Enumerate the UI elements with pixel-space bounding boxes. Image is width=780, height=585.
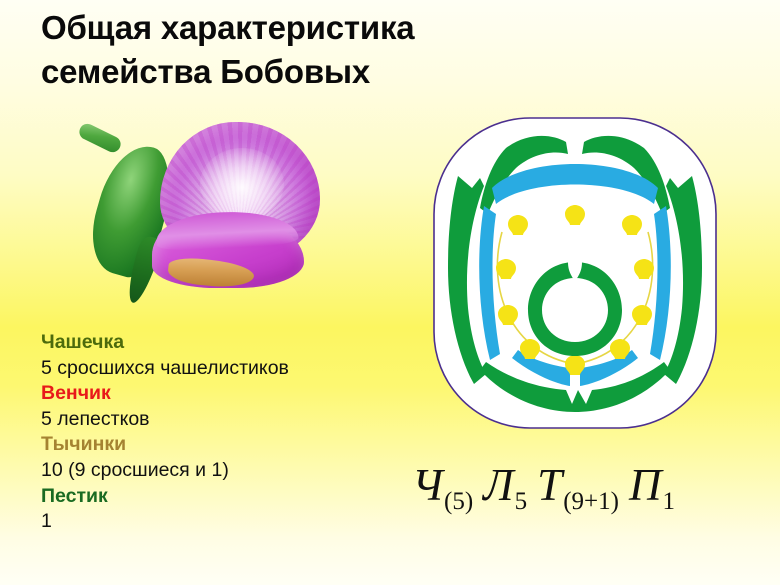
formula-subscript-stamens: (9+1) — [563, 488, 619, 515]
page-title: Общая характеристика семейства Бобовых — [41, 6, 561, 93]
flower-formula: Ч(5)Л5Т(9+1)П1 — [412, 455, 752, 525]
fact-heading-pistil: Пестик — [41, 484, 371, 510]
formula-subscript-calyx: (5) — [444, 488, 473, 515]
fact-heading-calyx: Чашечка — [41, 330, 371, 356]
formula-symbol-calyx: Ч — [412, 460, 443, 510]
fact-value-corolla: 5 лепестков — [41, 407, 371, 433]
formula-subscript-pistil: 1 — [662, 488, 675, 515]
formula-symbol-corolla: Л — [483, 460, 513, 510]
flower-petal-highlight — [200, 148, 284, 220]
formula-symbol-stamens: Т — [537, 460, 562, 510]
flower-stem — [77, 121, 124, 155]
floral-diagram-svg — [428, 112, 722, 442]
formula-subscript-corolla: 5 — [515, 488, 528, 515]
fact-value-stamens: 10 (9 сросшиеся и 1) — [41, 458, 371, 484]
pea-flower-photo — [60, 108, 324, 320]
fact-heading-corolla: Венчик — [41, 381, 371, 407]
fact-value-calyx: 5 сросшихся чашелистиков — [41, 356, 371, 382]
slide-canvas: Общая характеристика семейства Бобовых Ч… — [0, 0, 780, 585]
fact-heading-stamens: Тычинки — [41, 432, 371, 458]
fact-value-pistil: 1 — [41, 509, 371, 535]
formula-symbol-pistil: П — [629, 460, 662, 510]
floral-diagram — [428, 112, 722, 442]
flower-structure-list: Чашечка 5 сросшихся чашелистиков Венчик … — [41, 330, 371, 535]
